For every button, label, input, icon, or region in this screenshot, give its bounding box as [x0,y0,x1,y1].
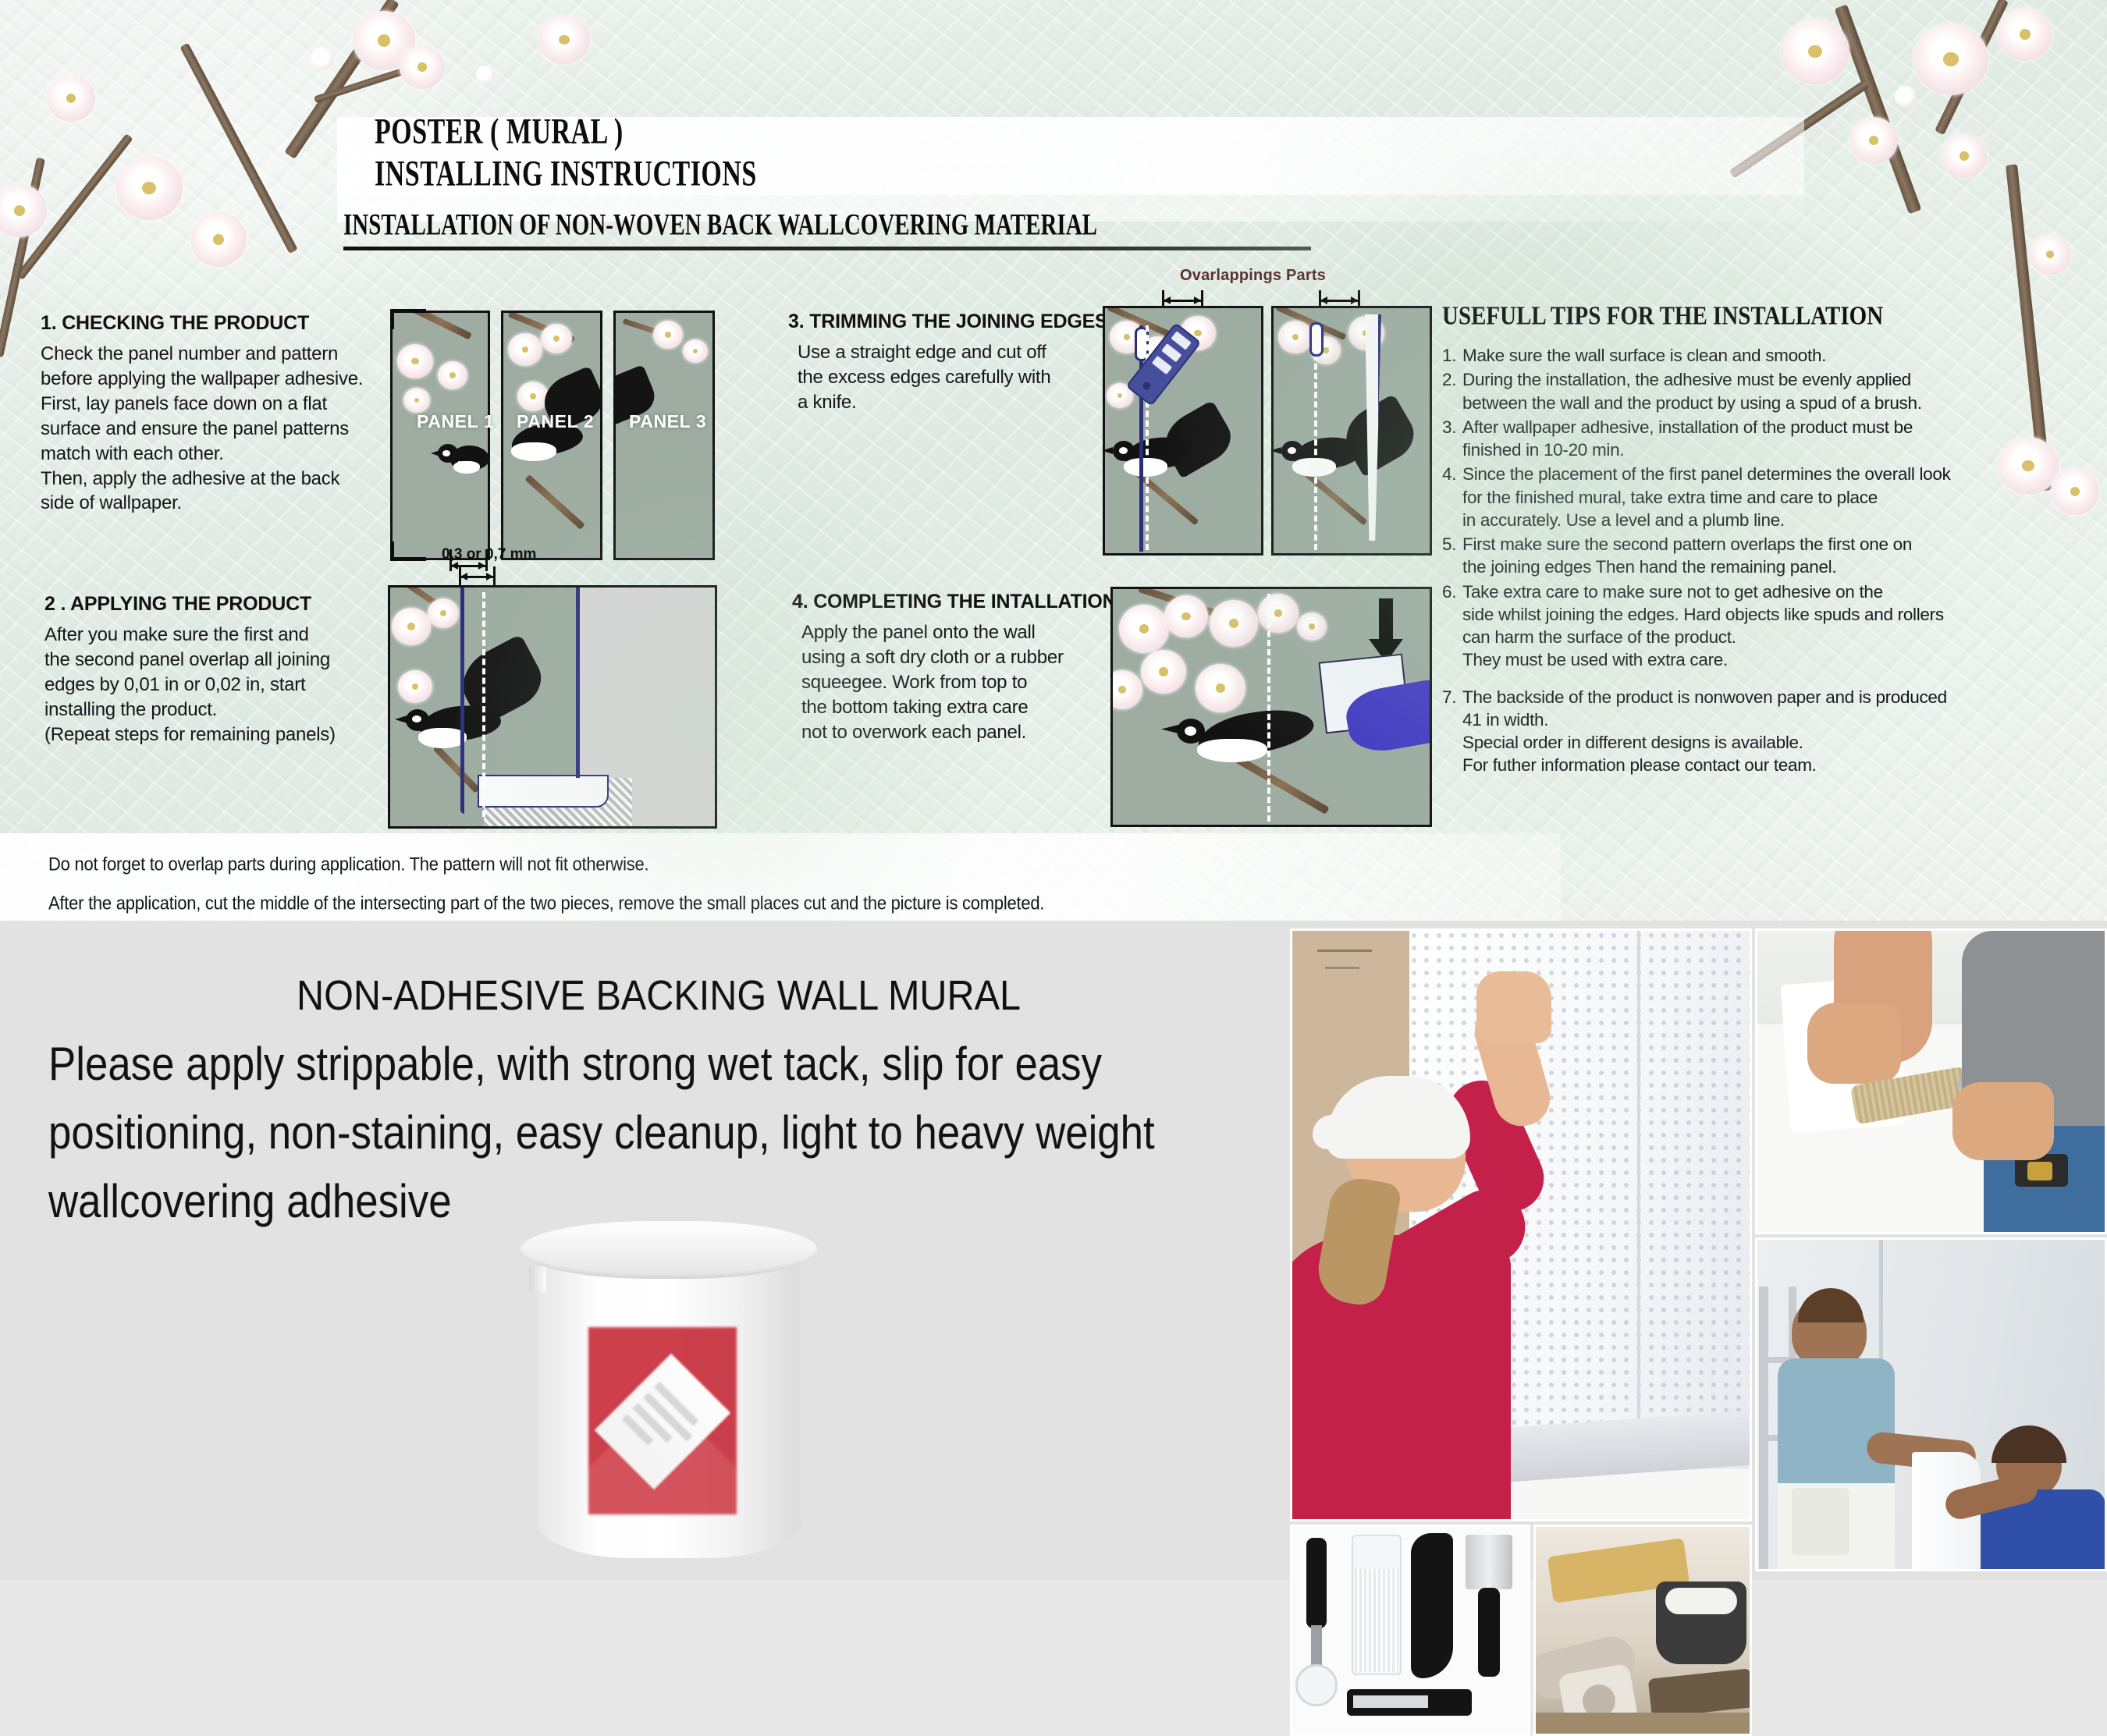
step-4-frame [1110,587,1432,827]
step-3-cut-line-right [1314,325,1317,550]
tip-5-text: First make sure the second pattern overl… [1462,533,2098,579]
step-2-line-4: installing the product. [44,698,419,722]
promo-line-1: Please apply strippable, with strong wet… [48,1030,1120,1099]
step-3-heading: 3. TRIMMING THE JOINING EDGES [788,311,1124,333]
step-1-checking-the-product: 1. CHECKING THE PRODUCT Check the panel … [41,312,415,516]
photo-collage [1290,928,2107,1580]
step-1-line-5: match with each other. [41,442,415,467]
step-3-left-bird [1110,417,1227,511]
promo-body: Please apply strippable, with strong wet… [48,1030,1266,1237]
step-2-line-3: edges by 0,01 in or 0,02 in, start [44,673,419,698]
step-4-cut-line [1267,594,1270,822]
photo-two-people-hanging-wallpaper [1755,1237,2107,1571]
adhesive-bucket-image [517,1221,821,1568]
tip-6-text: Take extra care to make sure not to get … [1462,580,2098,672]
step-3-frame-left [1103,306,1263,556]
tip-4-line-1: Since the placement of the first panel d… [1462,463,2098,485]
crop-mark-top [390,309,426,313]
tips-heading: USEFULL TIPS FOR THE INSTALLATION [1442,301,2098,332]
tip-item-2: 2. During the installation, the adhesive… [1442,368,2098,414]
tip-item-3: 3. After wallpaper adhesive, installatio… [1442,416,2098,462]
step-2-line-5: (Repeat steps for remaining panels) [44,722,419,747]
installation-instructions-poster: POSTER ( MURAL ) INSTALLING INSTRUCTIONS… [0,0,2107,921]
step-2-line-2: the second panel overlap all joining [44,648,419,673]
step-2-line-1: After you make sure the first and [44,623,419,648]
tip-2-line-2: between the wall and the product by usin… [1462,392,2098,414]
panel-2-frame [501,311,602,560]
tip-2-number: 2. [1442,368,1462,414]
step-1-line-2: before applying the wallpaper adhesive. [41,367,415,392]
overlap-dim-arrow-2 [1320,300,1358,302]
step-4-line-1: Apply the panel onto the wall [801,620,1128,645]
panel-3-frame [613,311,715,560]
poster-subtitle: INSTALLATION OF NON-WOVEN BACK WALLCOVER… [343,208,1319,243]
step-4-completing-the-installation: 4. COMPLETING THE INTALLATION Apply the … [792,591,1128,745]
photo-applying-paste-roller [1755,928,2107,1234]
step-2-heading: 2 . APPLYING THE PRODUCT [44,593,419,616]
step-4-line-3: squeegee. Work from top to [801,670,1128,695]
tip-7-number: 7. [1442,686,1462,777]
tip-6-line-2: side whilst joining the edges. Hard obje… [1462,603,2098,626]
step-3-right-mural-art [1274,308,1430,553]
tip-7-line-1: The backside of the product is nonwoven … [1462,686,2098,708]
step-3-body: Use a straight edge and cut off the exce… [798,340,1124,415]
crop-mark-top-vert [390,309,394,329]
step-4-heading: 4. COMPLETING THE INTALLATION [792,591,1128,613]
step-2-body: After you make sure the first and the se… [44,623,419,747]
step-3-line-2: the excess edges carefully with [798,365,1124,390]
step-2-dim-cap-right [493,566,496,585]
poster-subtitle-wrap: INSTALLATION OF NON-WOVEN BACK WALLCOVER… [343,217,1319,243]
tip-item-4: 4. Since the placement of the first pane… [1442,463,2098,531]
photo-woman-applying-wallpaper [1290,928,1752,1521]
step-1-line-4: surface and ensure the panel patterns [41,417,415,442]
step-1-line-3: First, lay panels face down on a flat [41,392,415,417]
poster-title-line1: POSTER ( MURAL ) [375,112,624,153]
tip-1-line-1: Make sure the wall surface is clean and … [1462,344,2098,367]
tip-3-line-2: finished in 10-20 min. [1462,438,2098,461]
tip-2-text: During the installation, the adhesive mu… [1462,368,2098,414]
tip-4-line-3: in accurately. Use a level and a plumb l… [1462,509,2098,531]
tip-5-line-1: First make sure the second pattern overl… [1462,533,2098,556]
peeled-edge-shape [478,775,609,808]
panel-1-frame [390,311,490,560]
promo-heading: NON-ADHESIVE BACKING WALL MURAL [297,971,1021,1020]
tip-7-line-4: For futher information please contact ou… [1462,754,2098,776]
panel-1-mural-art [393,313,488,558]
tip-3-number: 3. [1442,416,1462,462]
panel-3-mural-art [616,313,712,558]
step-2-dim-arrow [460,576,493,578]
panel-edge-line [576,588,580,778]
step-1-line-6: Then, apply the adhesive at the back [41,467,415,492]
tip-item-5: 5. First make sure the second pattern ov… [1442,533,2098,579]
poster-title-line2: INSTALLING INSTRUCTIONS [375,154,757,195]
overlap-dim-arrow-1 [1164,300,1201,302]
footnote-line-1: Do not forget to overlap parts during ap… [48,854,648,875]
tip-1-number: 1. [1442,344,1462,367]
bucket-lid [520,1221,818,1279]
step-4-line-4: the bottom taking extra care [801,695,1128,720]
tip-3-line-1: After wallpaper adhesive, installation o… [1462,416,2098,438]
panel-1-bird [438,435,489,481]
tip-6-line-4: They must be used with extra care. [1462,648,2098,671]
tip-4-text: Since the placement of the first panel d… [1462,463,2098,531]
gap-dim-arrow [451,565,485,567]
step-3-trimming-the-joining-edges: 3. TRIMMING THE JOINING EDGES Use a stra… [788,311,1124,415]
photo-tool-set [1290,1525,1530,1736]
step-1-line-1: Check the panel number and pattern [41,342,415,367]
step-1-line-7: side of wallpaper. [41,491,415,516]
tip-2-line-1: During the installation, the adhesive mu… [1462,368,2098,391]
tip-item-7: 7. The backside of the product is nonwov… [1442,686,2098,777]
panel-2-label: PANEL 2 [517,411,594,432]
tip-7-text: The backside of the product is nonwoven … [1462,686,2098,777]
tip-7-line-2: 41 in width. [1462,708,2098,731]
tip-6-line-1: Take extra care to make sure not to get … [1462,580,2098,603]
tip-4-number: 4. [1442,463,1462,531]
step-3-frame-right [1271,306,1432,556]
panel-3-label: PANEL 3 [629,411,706,432]
panel-gap-dimension-label: 0,3 or 0,7 mm [442,546,536,563]
promo-line-2: positioning, non-staining, easy cleanup,… [48,1099,1120,1167]
tip-5-number: 5. [1442,533,1462,579]
straight-edge-handle-right [1309,322,1324,357]
bucket-clip [529,1266,546,1293]
overlapping-parts-label: Ovarlappings Parts [1180,267,1326,285]
tip-4-line-2: for the finished mural, take extra time … [1462,486,2098,509]
step-4-line-5: not to overwork each panel. [801,720,1128,745]
step-3-line-1: Use a straight edge and cut off [798,340,1124,365]
panel-2-mural-art [503,313,600,558]
tip-item-6: 6. Take extra care to make sure not to g… [1442,580,2098,672]
crop-mark-bottom [390,557,426,561]
tip-7-line-3: Special order in different designs is av… [1462,731,2098,754]
footnote-line-2: After the application, cut the middle of… [48,893,1044,914]
tip-6-number: 6. [1442,580,1462,672]
step-2-applying-the-product: 2 . APPLYING THE PRODUCT After you make … [44,593,419,747]
step-2-overlap-frame [388,585,717,829]
step-3-line-3: a knife. [798,390,1124,415]
tip-item-1: 1. Make sure the wall surface is clean a… [1442,344,2098,367]
panel-1-label: PANEL 1 [417,411,494,432]
step-2-bird [395,651,543,761]
crop-mark-bottom-vert [390,541,394,561]
step-4-line-2: using a soft dry cloth or a rubber [801,645,1128,670]
step-1-body: Check the panel number and pattern befor… [41,342,415,516]
photo-paste-tools-tray [1533,1525,1752,1736]
tip-3-text: After wallpaper adhesive, installation o… [1462,416,2098,462]
subtitle-underline [343,247,1311,250]
panel-2-bird [501,382,602,483]
step-1-heading: 1. CHECKING THE PRODUCT [41,312,415,335]
fold-line-vertical [460,588,464,790]
fold-line-curve [460,784,464,814]
step-2-cut-line [482,592,485,817]
tip-6-line-3: can harm the surface of the product. [1462,626,2098,648]
step-4-body: Apply the panel onto the wall using a so… [801,620,1128,745]
tip-5-line-2: the joining edges Then hand the remainin… [1462,556,2098,578]
useful-tips-section: USEFULL TIPS FOR THE INSTALLATION 1. Mak… [1442,306,2098,779]
tip-1-text: Make sure the wall surface is clean and … [1462,344,2098,367]
